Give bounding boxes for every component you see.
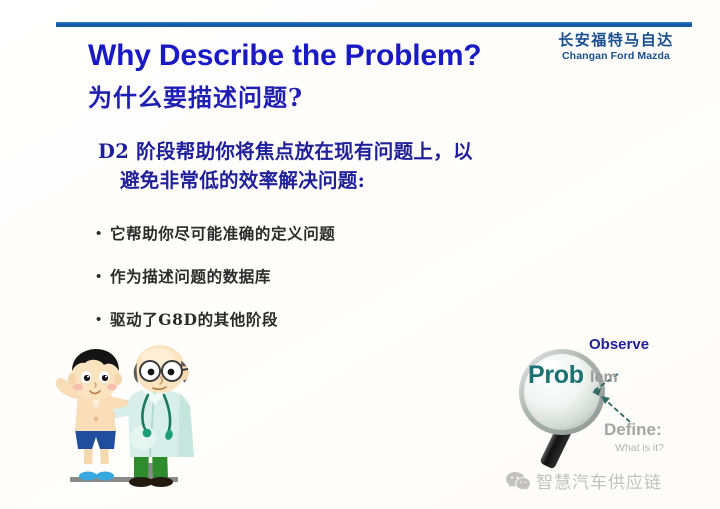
bullet-marker-icon: • xyxy=(96,222,110,246)
observe-label: Observe xyxy=(589,336,649,353)
bullet-list: • 它帮助你尽可能准确的定义问题 • 作为描述问题的数据库 • 驱动了G8D的其… xyxy=(96,222,536,351)
lead-line-2: 避免非常低的效率解决问题: xyxy=(98,167,628,196)
list-item-label: 它帮助你尽可能准确的定义问题 xyxy=(110,222,335,246)
slide-title-chinese: 为什么要描述问题? xyxy=(88,78,303,113)
list-item-label: 驱动了G8D的其他阶段 xyxy=(110,308,278,332)
watermark-label: 智慧汽车供应链 xyxy=(536,468,662,493)
list-item: • 作为描述问题的数据库 xyxy=(96,265,536,289)
lead-paragraph: D2 阶段帮助你将焦点放在现有问题上，以 避免非常低的效率解决问题: xyxy=(98,138,628,196)
watermark: 智慧汽车供应链 xyxy=(505,468,662,493)
list-item: • 它帮助你尽可能准确的定义问题 xyxy=(96,222,536,246)
lead-line-1: D2 阶段帮助你将焦点放在现有问题上，以 xyxy=(98,140,473,163)
magnified-word-prob: Prob xyxy=(528,361,584,390)
define-question-label: What is it? xyxy=(615,442,664,454)
doctor-examining-boy-illustration xyxy=(42,345,237,505)
brand-logo: 长安福特马自达 Changan Ford Mazda xyxy=(528,33,704,62)
word-remainder-lem: lem xyxy=(590,369,618,387)
slide-canvas: 长安福特马自达 Changan Ford Mazda Why Describe … xyxy=(0,0,720,509)
define-label: Define: xyxy=(604,420,662,440)
list-item-label: 作为描述问题的数据库 xyxy=(110,265,271,289)
list-item: • 驱动了G8D的其他阶段 xyxy=(96,308,536,332)
bullet-marker-icon: • xyxy=(96,265,110,289)
magnifier-problem-diagram: Prob lem Observe Define: What is it? xyxy=(500,330,720,470)
wechat-icon xyxy=(505,470,531,492)
brand-name-cn: 长安福特马自达 xyxy=(528,33,704,49)
slide-title-english: Why Describe the Problem? xyxy=(88,39,481,73)
brand-name-en: Changan Ford Mazda xyxy=(528,51,704,62)
header-divider-rule xyxy=(56,22,692,27)
bullet-marker-icon: • xyxy=(96,308,110,332)
